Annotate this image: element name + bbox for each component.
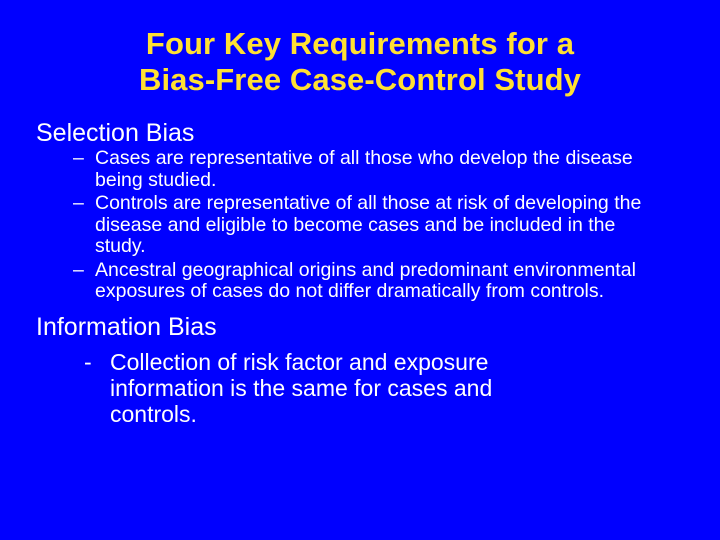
slide-title-line-1: Four Key Requirements for a bbox=[0, 26, 720, 62]
bullet-dash: – bbox=[73, 148, 84, 170]
bullet-list-information-bias: - Collection of risk factor and exposure… bbox=[0, 349, 720, 427]
bullet-item: – Ancestral geographical origins and pre… bbox=[73, 260, 658, 303]
slide-body: Selection Bias – Cases are representativ… bbox=[0, 118, 720, 427]
bullet-text: Collection of risk factor and exposure i… bbox=[110, 349, 492, 427]
section-heading-selection-bias: Selection Bias bbox=[36, 118, 720, 148]
bullet-text: Ancestral geographical origins and predo… bbox=[95, 259, 636, 303]
bullet-item: – Cases are representative of all those … bbox=[73, 148, 658, 191]
slide-canvas: Four Key Requirements for a Bias-Free Ca… bbox=[0, 0, 720, 540]
bullet-list-selection-bias: – Cases are representative of all those … bbox=[0, 148, 720, 303]
bullet-dash: – bbox=[73, 193, 84, 215]
slide-title-line-2: Bias-Free Case-Control Study bbox=[0, 62, 720, 98]
bullet-dash: – bbox=[73, 260, 84, 282]
bullet-text: Cases are representative of all those wh… bbox=[95, 147, 633, 191]
slide-title: Four Key Requirements for a Bias-Free Ca… bbox=[0, 26, 720, 98]
bullet-item: – Controls are representative of all tho… bbox=[73, 193, 658, 258]
bullet-item: - Collection of risk factor and exposure… bbox=[84, 349, 514, 427]
bullet-text: Controls are representative of all those… bbox=[95, 192, 641, 257]
bullet-dash: - bbox=[84, 349, 92, 375]
section-heading-information-bias: Information Bias bbox=[36, 312, 720, 342]
